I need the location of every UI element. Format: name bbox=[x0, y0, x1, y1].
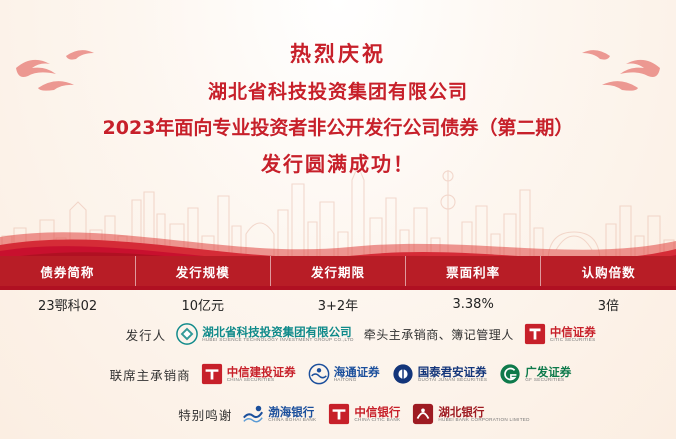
celebration-poster: 热烈庆祝 湖北省科技投资集团有限公司 2023年面向专业投资者非公开发行公司债券… bbox=[0, 0, 676, 439]
headline-line-3: 2023年面向专业投资者非公开发行公司债券（第二期） bbox=[0, 113, 676, 140]
hbkt-logo-icon bbox=[176, 323, 198, 345]
logo-hbkt-en: HUBEI SCIENCE TECHNOLOGY INVESTMENT GROU… bbox=[202, 338, 354, 343]
logo-china-securities-en: CHINA SECURITIES bbox=[227, 378, 296, 383]
haitong-logo-icon bbox=[308, 363, 330, 385]
logo-china-securities: 中信建投证券 CHINA SECURITIES bbox=[201, 363, 296, 385]
logo-gf-securities-cn: 广发证券 bbox=[525, 366, 571, 378]
logo-china-securities-cn: 中信建投证券 bbox=[227, 366, 296, 378]
row-label-special-thanks: 特别鸣谢 bbox=[146, 405, 232, 424]
logo-gf-securities-en: GF SECURITIES bbox=[525, 378, 571, 383]
table-header-row: 债券简称 发行规模 发行期限 票面利率 认购倍数 bbox=[0, 256, 676, 286]
logo-guotai-junan: 国泰君安证券 GUOTAI JUNAN SECURITIES bbox=[392, 363, 488, 385]
logo-citic-bank-cn: 中信银行 bbox=[354, 406, 400, 418]
headline-line-2: 湖北省科技投资集团有限公司 bbox=[0, 77, 676, 104]
hubei-bank-logo-icon bbox=[412, 403, 434, 425]
table-header-cell: 债券简称 bbox=[0, 256, 135, 286]
headline-block: 热烈庆祝 湖北省科技投资集团有限公司 2023年面向专业投资者非公开发行公司债券… bbox=[0, 38, 676, 177]
logo-citic-securities-en: CITIC SECURITIES bbox=[550, 338, 596, 343]
row-special-thanks: 特别鸣谢 渤海银行 CHINA BOHAI BANK bbox=[0, 396, 676, 432]
table-header-cell: 发行期限 bbox=[270, 256, 405, 286]
row-label-joint-underwriters: 联席主承销商 bbox=[105, 365, 191, 384]
logo-bohai-bank: 渤海银行 CHINA BOHAI BANK bbox=[242, 403, 316, 425]
citic-securities-logo-icon bbox=[524, 323, 546, 345]
logo-citic-securities: 中信证券 CITIC SECURITIES bbox=[524, 323, 596, 345]
logo-guotai-junan-en: GUOTAI JUNAN SECURITIES bbox=[418, 378, 488, 383]
logo-citic-securities-cn: 中信证券 bbox=[550, 326, 596, 338]
logo-hubei-bank: 湖北银行 HUBEI BANK CORPORATION LIMITED bbox=[412, 403, 529, 425]
logo-bohai-bank-cn: 渤海银行 bbox=[268, 406, 316, 418]
headline-line-4: 发行圆满成功！ bbox=[0, 148, 676, 177]
table-header-cell: 票面利率 bbox=[406, 256, 541, 286]
row-label-issuer: 发行人 bbox=[80, 325, 166, 344]
logo-haitong: 海通证券 HAITONG bbox=[308, 363, 380, 385]
logo-haitong-cn: 海通证券 bbox=[334, 366, 380, 378]
table-header-cell: 认购倍数 bbox=[541, 256, 676, 286]
row-joint-underwriters: 联席主承销商 中信建投证券 CHINA SECURITIES bbox=[0, 356, 676, 392]
china-securities-logo-icon bbox=[201, 363, 223, 385]
gf-securities-logo-icon bbox=[499, 363, 521, 385]
logo-hubei-bank-cn: 湖北银行 bbox=[438, 406, 529, 418]
table-header-cell: 发行规模 bbox=[135, 256, 270, 286]
logo-gf-securities: 广发证券 GF SECURITIES bbox=[499, 363, 571, 385]
bohai-bank-logo-icon bbox=[242, 403, 264, 425]
logo-guotai-junan-cn: 国泰君安证券 bbox=[418, 366, 488, 378]
row-issuer: 发行人 湖北省科技投资集团有限公司 HUBEI SCIENCE TECHNOLO… bbox=[0, 316, 676, 352]
logo-citic-bank-en: CHINA CITIC BANK bbox=[354, 418, 400, 423]
logo-hubei-bank-en: HUBEI BANK CORPORATION LIMITED bbox=[438, 418, 529, 423]
logo-bohai-bank-en: CHINA BOHAI BANK bbox=[268, 418, 316, 423]
partners-section: 发行人 湖北省科技投资集团有限公司 HUBEI SCIENCE TECHNOLO… bbox=[0, 316, 676, 436]
logo-hbkt: 湖北省科技投资集团有限公司 HUBEI SCIENCE TECHNOLOGY I… bbox=[176, 323, 354, 345]
guotai-junan-logo-icon bbox=[392, 363, 414, 385]
lead-underwriter-label: 牵头主承销商、簿记管理人 bbox=[364, 326, 514, 343]
headline-line-1: 热烈庆祝 bbox=[0, 38, 676, 68]
logo-hbkt-cn: 湖北省科技投资集团有限公司 bbox=[202, 326, 354, 338]
logo-haitong-en: HAITONG bbox=[334, 378, 380, 383]
logo-citic-bank: 中信银行 CHINA CITIC BANK bbox=[328, 403, 400, 425]
bond-summary-table: 债券简称 发行规模 发行期限 票面利率 认购倍数 23鄂科02 10亿元 3+2… bbox=[0, 256, 676, 322]
citic-bank-logo-icon bbox=[328, 403, 350, 425]
